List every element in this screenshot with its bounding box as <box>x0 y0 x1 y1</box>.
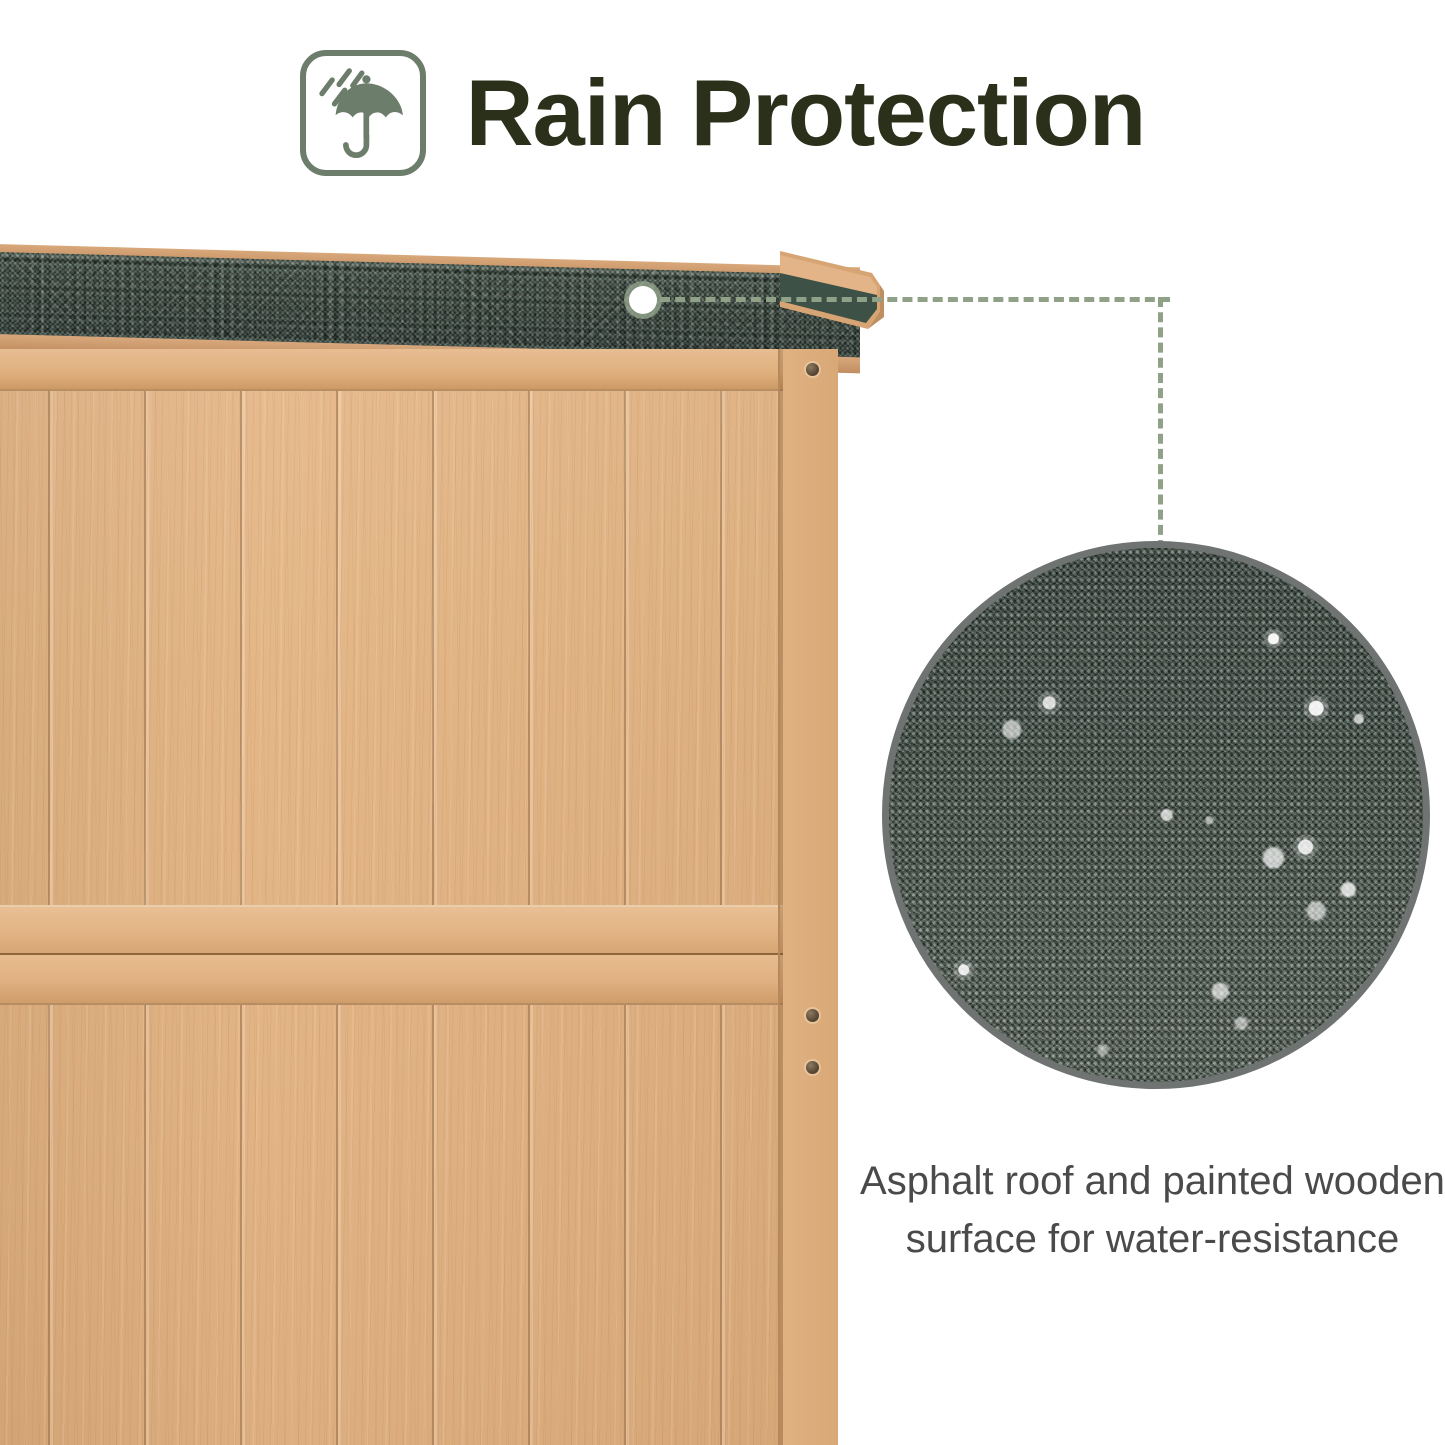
middle-frame-rail <box>0 905 838 1001</box>
screw-head <box>806 363 819 376</box>
product-feature-image: Rain Protection <box>0 0 1445 1445</box>
right-corner-stile <box>778 349 838 1445</box>
wooden-garden-storage-shed <box>0 243 890 1445</box>
caption-line-1: Asphalt roof and painted wooden <box>860 1152 1445 1210</box>
mid-rail-upper <box>0 905 838 955</box>
page-title: Rain Protection <box>466 66 1146 160</box>
upper-frame-rail <box>0 349 838 391</box>
caption-line-2: surface for water-resistance <box>860 1210 1445 1268</box>
screw-head <box>806 1061 819 1074</box>
feature-header: Rain Protection <box>0 0 1445 225</box>
dashed-leader-line-horizontal <box>660 297 1170 302</box>
roof-detail-marker <box>629 286 657 314</box>
shed-body-panel <box>0 349 838 1445</box>
screw-head <box>806 1009 819 1022</box>
wood-grain-texture <box>0 349 838 1445</box>
mid-rail-lower <box>0 953 838 1005</box>
rain-umbrella-icon <box>300 50 426 176</box>
asphalt-roof-closeup <box>882 541 1430 1089</box>
feature-caption: Asphalt roof and painted wooden surface … <box>860 1152 1445 1268</box>
dashed-leader-line-vertical <box>1158 297 1163 550</box>
